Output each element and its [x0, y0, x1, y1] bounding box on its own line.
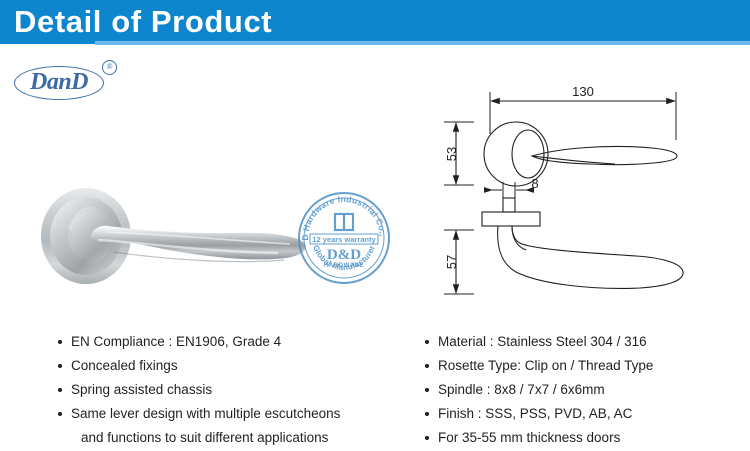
spec-list-right: Material : Stainless Steel 304 / 316 Ros…	[425, 330, 745, 450]
bullet-icon	[425, 364, 429, 368]
company-watermark-stamp: D&D Hardware Industrial Co., Ltd Global …	[296, 190, 392, 286]
list-item: Spindle : 8x8 / 7x7 / 6x6mm	[425, 378, 745, 402]
bullet-icon	[425, 436, 429, 440]
list-item: Same lever design with multiple escutche…	[58, 402, 398, 426]
list-item: Finish : SSS, PSS, PVD, AB, AC	[425, 402, 745, 426]
svg-text:D&D: D&D	[327, 247, 361, 263]
bullet-icon	[58, 340, 62, 344]
brand-logo: DanD ®	[14, 60, 124, 106]
logo-brand-text: DanD	[14, 66, 104, 100]
list-item-continuation: and functions to suit different applicat…	[58, 426, 398, 450]
list-item-label: EN Compliance : EN1906, Grade 4	[71, 334, 281, 349]
dim-label-130: 130	[572, 84, 594, 99]
list-item-label: Same lever design with multiple escutche…	[71, 406, 340, 421]
svg-text:HARDWARE: HARDWARE	[324, 263, 364, 269]
list-item-label: Spring assisted chassis	[71, 382, 212, 397]
list-item: Spring assisted chassis	[58, 378, 398, 402]
product-photo-lever-handle	[28, 168, 338, 303]
list-item: Rosette Type: Clip on / Thread Type	[425, 354, 745, 378]
list-item: Material : Stainless Steel 304 / 316	[425, 330, 745, 354]
svg-text:12 years warranty: 12 years warranty	[312, 235, 376, 244]
page-title: Detail of Product	[14, 3, 272, 41]
spec-list-left: EN Compliance : EN1906, Grade 4 Conceale…	[58, 330, 398, 450]
list-item-label: Finish : SSS, PSS, PVD, AB, AC	[438, 406, 632, 421]
bullet-icon	[425, 340, 429, 344]
technical-drawings: 130 53 8 57	[440, 78, 745, 308]
dim-label-8: 8	[531, 176, 538, 191]
list-item-label: Spindle : 8x8 / 7x7 / 6x6mm	[438, 382, 605, 397]
page-header-banner: Detail of Product	[0, 0, 750, 44]
svg-text:D&D Hardware Industrial Co., L: D&D Hardware Industrial Co., Ltd	[296, 190, 388, 241]
list-item: EN Compliance : EN1906, Grade 4	[58, 330, 398, 354]
list-item-label: Material : Stainless Steel 304 / 316	[438, 334, 647, 349]
bullet-icon	[425, 412, 429, 416]
list-item-label: For 35-55 mm thickness doors	[438, 430, 620, 445]
registered-trademark-icon: ®	[102, 60, 117, 75]
bullet-icon	[425, 388, 429, 392]
header-accent-underline	[95, 41, 750, 45]
list-item-label: Concealed fixings	[71, 358, 178, 373]
dim-label-57: 57	[444, 255, 459, 269]
bullet-icon	[58, 388, 62, 392]
bullet-icon	[58, 364, 62, 368]
list-item: Concealed fixings	[58, 354, 398, 378]
list-item: For 35-55 mm thickness doors	[425, 426, 745, 450]
dim-label-53: 53	[444, 147, 459, 161]
list-item-label: Rosette Type: Clip on / Thread Type	[438, 358, 653, 373]
bullet-icon	[58, 412, 62, 416]
